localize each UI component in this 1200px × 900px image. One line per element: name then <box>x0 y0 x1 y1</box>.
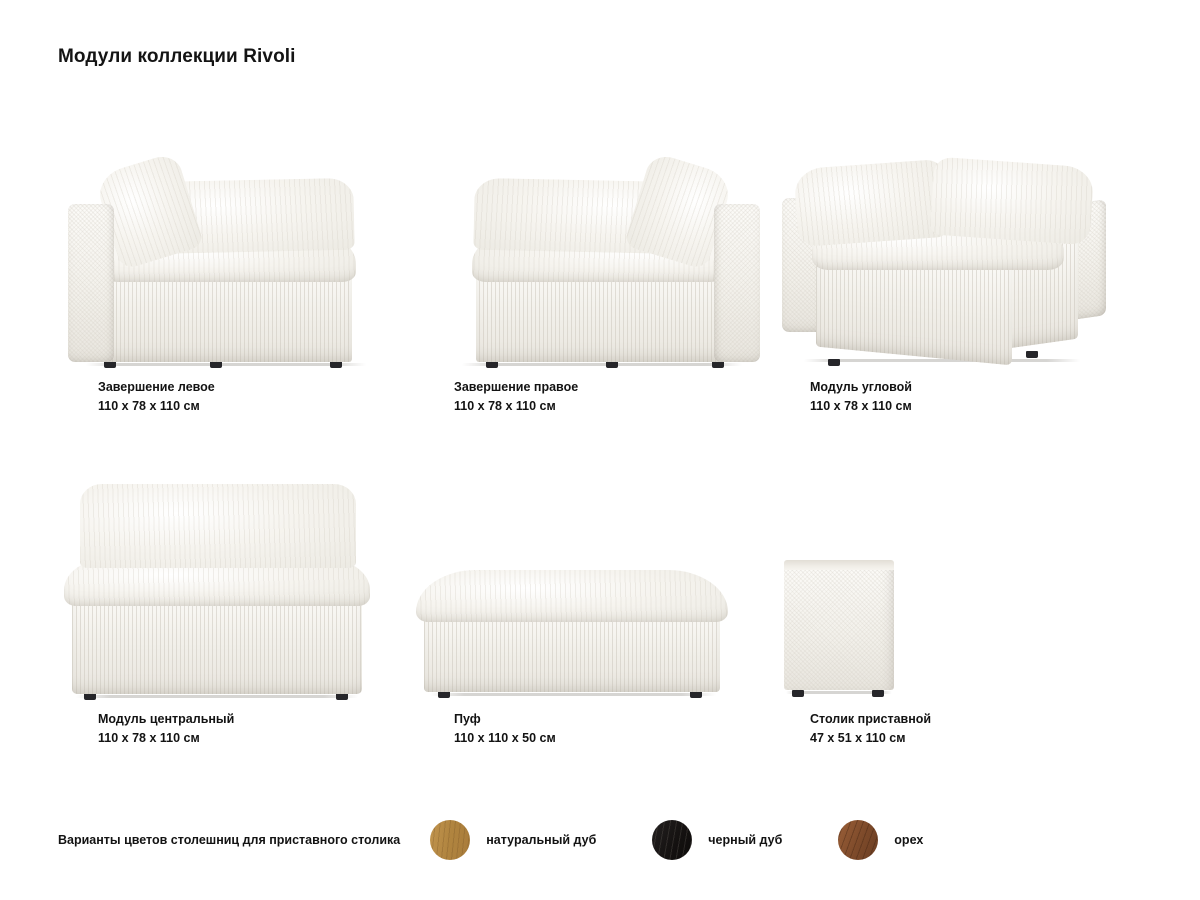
right-armrest <box>714 204 760 362</box>
oak-swatch-icon[interactable] <box>430 820 470 860</box>
sofa-foot <box>606 361 618 368</box>
pouf-foot <box>690 691 702 698</box>
color-option-natural-oak[interactable]: натуральный дуб <box>430 820 596 860</box>
module-image-pouf <box>414 452 770 702</box>
module-caption: Модуль угловой 110 x 78 x 110 см <box>810 378 912 417</box>
module-name: Завершение левое <box>98 378 215 397</box>
color-option-label: черный дуб <box>708 833 782 847</box>
module-name: Завершение правое <box>454 378 578 397</box>
module-caption: Завершение левое 110 x 78 x 110 см <box>98 378 215 417</box>
pouf-foot <box>438 691 450 698</box>
module-dimensions: 110 x 110 x 50 см <box>454 729 556 748</box>
pouf-cushion <box>416 570 728 622</box>
sofa-foot <box>84 693 96 700</box>
color-legend-items: натуральный дуб черный дуб орех <box>430 820 923 860</box>
module-name: Модуль центральный <box>98 710 234 729</box>
table-foot <box>872 690 884 697</box>
module-row-2: Модуль центральный 110 x 78 x 110 см <box>58 452 1148 752</box>
color-option-label: орех <box>894 833 923 847</box>
sofa-foot <box>486 361 498 368</box>
sofa-right-end-illustration <box>414 120 770 370</box>
left-armrest <box>68 204 114 362</box>
floor-shadow <box>804 359 1080 362</box>
floor-shadow <box>86 363 366 366</box>
page-title: Модули коллекции Rivoli <box>58 46 296 68</box>
module-dimensions: 110 x 78 x 110 см <box>454 397 578 416</box>
walnut-swatch-icon[interactable] <box>838 820 878 860</box>
back-cushion-left <box>793 159 948 247</box>
module-dimensions: 110 x 78 x 110 см <box>98 397 215 416</box>
sofa-left-end-illustration <box>58 120 414 370</box>
color-option-walnut[interactable]: орех <box>838 820 923 860</box>
module-card-center[interactable]: Модуль центральный 110 x 78 x 110 см <box>58 452 414 752</box>
module-image-left-end <box>58 120 414 370</box>
sofa-foot <box>1026 351 1038 358</box>
module-grid: Завершение левое 110 x 78 x 110 см <box>58 120 1148 752</box>
module-name: Пуф <box>454 710 556 729</box>
pouf-illustration <box>414 452 770 702</box>
back-cushion-right <box>929 157 1094 246</box>
module-caption: Столик приставной 47 x 51 x 110 см <box>810 710 931 749</box>
color-legend-label: Варианты цветов столешниц для приставног… <box>58 833 400 847</box>
module-caption: Завершение правое 110 x 78 x 110 см <box>454 378 578 417</box>
module-row-1: Завершение левое 110 x 78 x 110 см <box>58 120 1148 420</box>
module-dimensions: 47 x 51 x 110 см <box>810 729 931 748</box>
color-legend: Варианты цветов столешниц для приставног… <box>58 818 1148 862</box>
sofa-foot <box>210 361 222 368</box>
side-table-illustration <box>770 452 1126 702</box>
back-cushion <box>80 484 356 568</box>
table-body <box>784 564 894 690</box>
color-option-black-oak[interactable]: черный дуб <box>652 820 782 860</box>
sofa-foot <box>104 361 116 368</box>
module-card-left-end[interactable]: Завершение левое 110 x 78 x 110 см <box>58 120 414 420</box>
module-card-right-end[interactable]: Завершение правое 110 x 78 x 110 см <box>414 120 770 420</box>
sofa-foot <box>712 361 724 368</box>
sofa-foot <box>828 359 840 366</box>
module-card-side-table[interactable]: Столик приставной 47 x 51 x 110 см <box>770 452 1126 752</box>
module-card-pouf[interactable]: Пуф 110 x 110 x 50 см <box>414 452 770 752</box>
sofa-foot <box>330 361 342 368</box>
module-image-corner <box>770 120 1126 370</box>
floor-shadow <box>76 695 358 698</box>
sofa-foot <box>336 693 348 700</box>
module-image-right-end <box>414 120 770 370</box>
module-card-corner[interactable]: Модуль угловой 110 x 78 x 110 см <box>770 120 1126 420</box>
sofa-corner-illustration <box>770 120 1126 370</box>
module-dimensions: 110 x 78 x 110 см <box>98 729 234 748</box>
module-name: Столик приставной <box>810 710 931 729</box>
color-option-label: натуральный дуб <box>486 833 596 847</box>
table-foot <box>792 690 804 697</box>
table-top <box>784 560 894 570</box>
floor-shadow <box>462 363 742 366</box>
catalog-page: Модули коллекции Rivoli <box>0 0 1200 900</box>
module-image-side-table <box>770 452 1126 702</box>
module-dimensions: 110 x 78 x 110 см <box>810 397 912 416</box>
module-name: Модуль угловой <box>810 378 912 397</box>
module-caption: Модуль центральный 110 x 78 x 110 см <box>98 710 234 749</box>
black-oak-swatch-icon[interactable] <box>652 820 692 860</box>
sofa-center-illustration <box>58 452 414 702</box>
floor-shadow <box>430 693 716 696</box>
module-image-center <box>58 452 414 702</box>
module-caption: Пуф 110 x 110 x 50 см <box>454 710 556 749</box>
